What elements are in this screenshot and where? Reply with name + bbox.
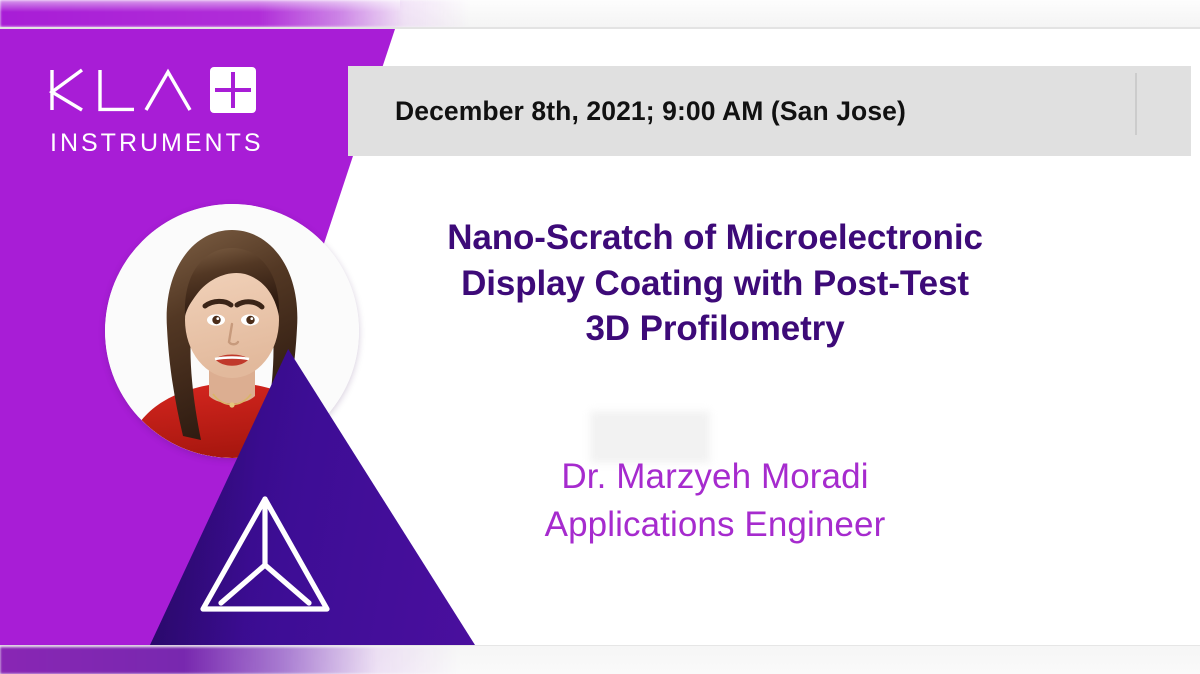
kla-instruments-label: INSTRUMENTS xyxy=(48,131,278,156)
slide-viewport: INSTRUMENTS xyxy=(0,0,1200,674)
speaker-role: Applications Engineer xyxy=(365,501,1065,549)
tetrahedron-logo-icon xyxy=(195,491,335,619)
kla-wordmark-row xyxy=(48,61,278,119)
presentation-title: Nano-Scratch of Microelectronic Display … xyxy=(365,215,1065,352)
speaker-credit: Dr. Marzyeh Moradi Applications Engineer xyxy=(365,453,1065,548)
webinar-datetime-text: December 8th, 2021; 9:00 AM (San Jose) xyxy=(395,96,906,127)
kla-wordmark-icon xyxy=(48,64,200,116)
kla-logo-lockup: INSTRUMENTS xyxy=(48,61,278,156)
title-line-3: 3D Profilometry xyxy=(365,306,1065,352)
title-line-1: Nano-Scratch of Microelectronic xyxy=(365,215,1065,261)
decorative-bleed-bar-top-highlight xyxy=(0,0,400,12)
decorative-bleed-bar-bottom xyxy=(0,647,460,674)
speaker-name: Dr. Marzyeh Moradi xyxy=(365,453,1065,501)
title-slide: INSTRUMENTS xyxy=(0,29,1200,645)
date-banner: December 8th, 2021; 9:00 AM (San Jose) xyxy=(348,66,1191,156)
title-line-2: Display Coating with Post-Test xyxy=(365,261,1065,307)
kla-plus-icon xyxy=(210,67,256,113)
